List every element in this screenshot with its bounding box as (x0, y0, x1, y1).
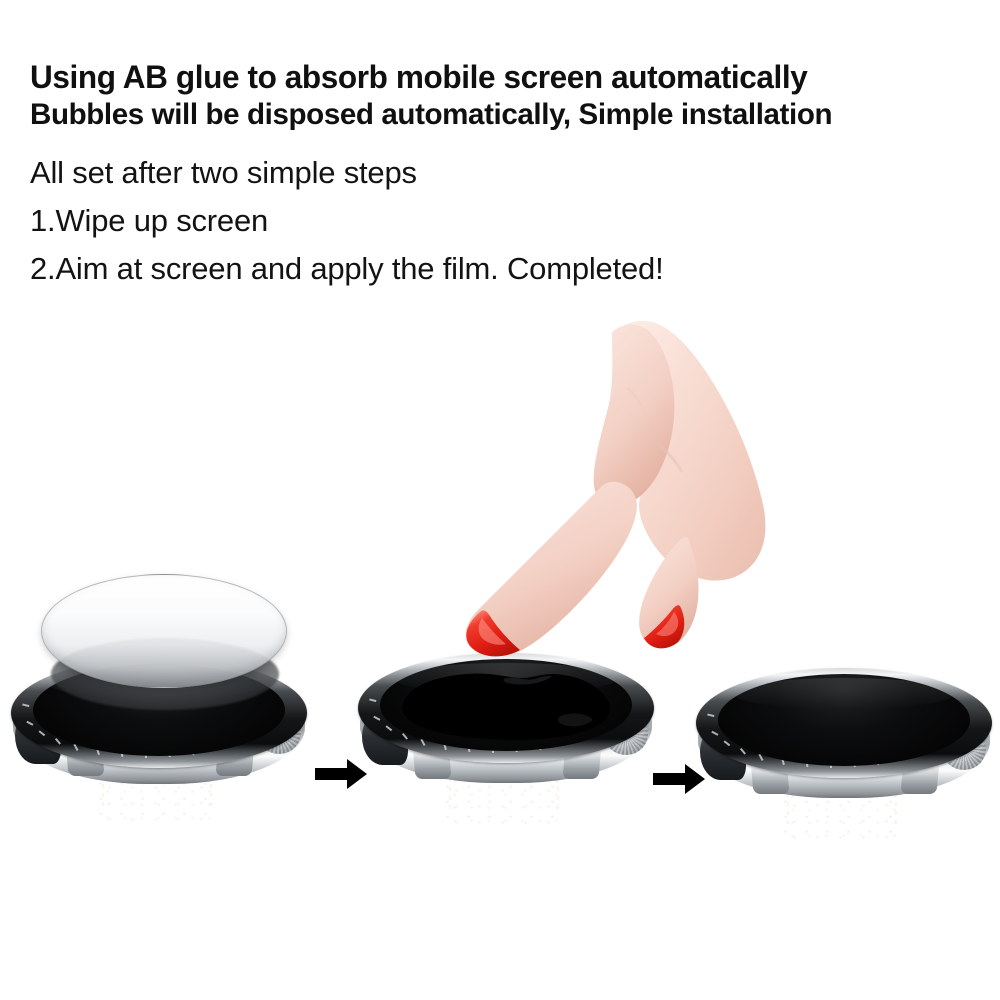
arrow-step-1-to-2 (313, 757, 369, 791)
screen-reflection (733, 678, 955, 709)
watch-step-1-film-hovering: 16 14 12 10 (5, 580, 315, 850)
watch-step-2-applying-film: 16 14 12 10 (352, 595, 662, 865)
screen-protector-film (41, 574, 287, 688)
watch-screen (380, 659, 632, 751)
watch-screen (718, 674, 970, 766)
product-instruction-image: Using AB glue to absorb mobile screen au… (0, 0, 1000, 1000)
watch-installation-scene: 16 14 12 10 (0, 0, 1000, 1000)
arrow-step-2-to-3 (651, 762, 707, 796)
glue-spreading-bubbles (390, 665, 622, 742)
watch-step-3-completed: 16 14 12 10 (690, 610, 1000, 880)
